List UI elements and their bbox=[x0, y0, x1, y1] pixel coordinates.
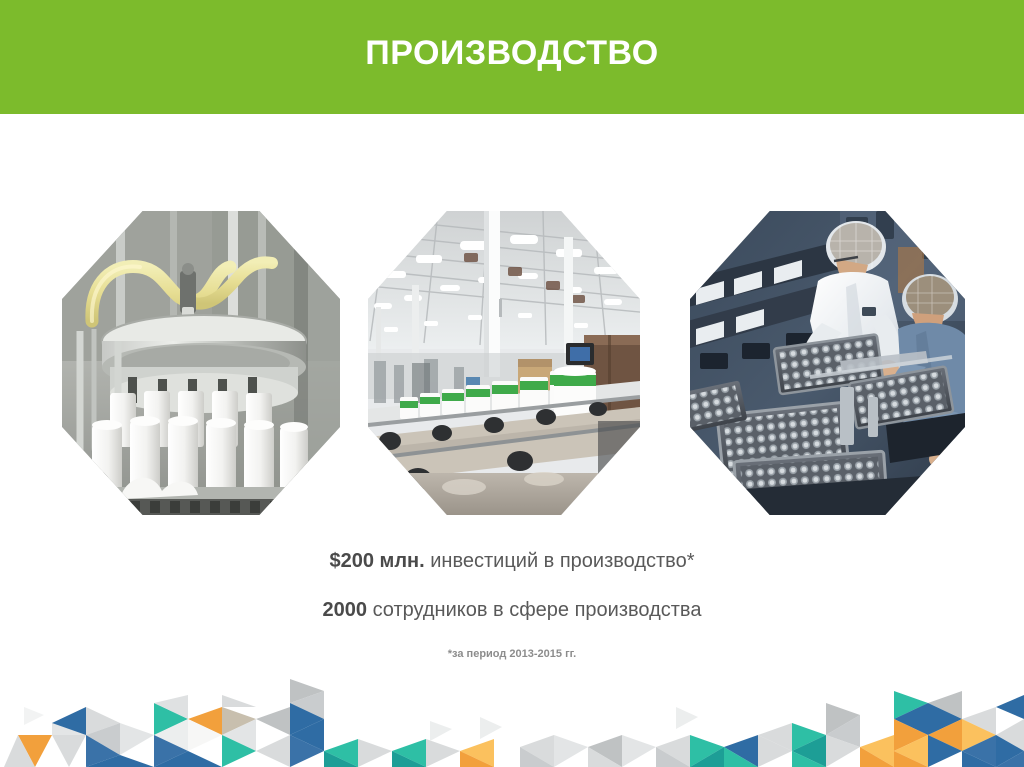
caption-employees-count: 2000 bbox=[323, 599, 368, 621]
caption-investments-amount: $200 млн. bbox=[330, 550, 425, 572]
caption-employees-text: сотрудников в сфере производства bbox=[367, 599, 701, 621]
slide-canvas: ПРОИЗВОДСТВО bbox=[0, 0, 1024, 767]
caption-line-employees: 2000 сотрудников в сфере производства bbox=[0, 599, 1024, 621]
caption-block: $200 млн. инвестиций в производство* 200… bbox=[0, 550, 1024, 660]
caption-investments-text: инвестиций в производство* bbox=[425, 550, 695, 572]
page-title: ПРОИЗВОДСТВО bbox=[0, 0, 1024, 114]
caption-line-investments: $200 млн. инвестиций в производство* bbox=[0, 550, 1024, 572]
triangle-pattern-decoration bbox=[0, 677, 1024, 767]
gallery-image-workers-vial-trays bbox=[690, 211, 965, 515]
gallery-image-bottle-filling-machine bbox=[62, 211, 340, 515]
footnote: *за период 2013-2015 гг. bbox=[0, 648, 1024, 660]
gallery-image-factory-conveyor-line bbox=[368, 211, 640, 515]
